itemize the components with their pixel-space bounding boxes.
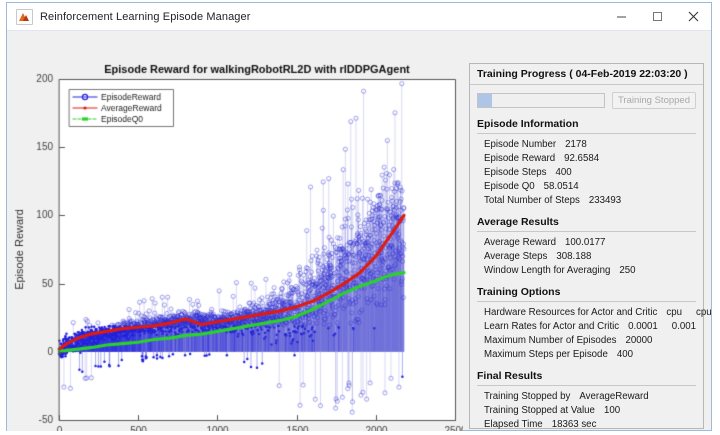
info-row: Episode Steps400: [477, 165, 696, 179]
panel-section: Final ResultsTraining Stopped byAverageR…: [477, 370, 696, 431]
panel-content: Training Stopped Episode InformationEpis…: [470, 85, 703, 431]
info-key: Episode Q0: [484, 181, 535, 192]
info-value: 233493: [589, 195, 621, 206]
section-heading: Final Results: [477, 370, 696, 386]
window-controls: [603, 3, 711, 30]
title-bar: Reinforcement Learning Episode Manager: [7, 3, 711, 31]
info-row: Training Stopped at Value100: [477, 403, 696, 417]
info-key: Average Steps: [484, 251, 547, 262]
section-heading: Average Results: [477, 216, 696, 232]
info-key: Learn Rates for Actor and Critic: [484, 321, 619, 332]
info-key: Maximum Number of Episodes: [484, 335, 616, 346]
info-value: 100.0177: [565, 237, 605, 248]
app-window: Reinforcement Learning Episode Manager T…: [6, 2, 712, 431]
info-value: 308.188: [556, 251, 591, 262]
section-heading: Episode Information: [477, 118, 696, 134]
info-value-secondary: cpu: [696, 307, 712, 318]
matlab-membrane-icon: [16, 9, 33, 25]
maximize-icon[interactable]: [639, 3, 675, 30]
panel-section: Average ResultsAverage Reward100.0177Ave…: [477, 216, 696, 277]
info-value: 400: [555, 167, 571, 178]
info-key: Episode Steps: [484, 167, 546, 178]
info-row: Elapsed Time18363 sec: [477, 417, 696, 431]
info-value: 400: [617, 349, 633, 360]
info-row: Average Steps308.188: [477, 249, 696, 263]
info-key: Maximum Steps per Episode: [484, 349, 608, 360]
info-key: Episode Number: [484, 139, 556, 150]
info-value-secondary: 0.001: [672, 321, 696, 332]
info-row: Episode Reward92.6584: [477, 151, 696, 165]
info-value: 0.0001: [628, 321, 658, 332]
progress-bar-fill: [478, 94, 492, 107]
progress-row: Training Stopped: [477, 92, 696, 109]
info-row: Hardware Resources for Actor and Criticc…: [477, 305, 696, 319]
window-title: Reinforcement Learning Episode Manager: [40, 11, 250, 23]
info-key: Total Number of Steps: [484, 195, 580, 206]
info-key: Average Reward: [484, 237, 556, 248]
panel-section: Episode InformationEpisode Number2178Epi…: [477, 118, 696, 207]
close-icon[interactable]: [675, 3, 711, 30]
info-value: 2178: [565, 139, 587, 150]
info-key: Hardware Resources for Actor and Critic: [484, 307, 657, 318]
info-value: 92.6584: [564, 153, 599, 164]
info-row: Learn Rates for Actor and Critic0.00010.…: [477, 319, 696, 333]
info-value: 100: [604, 405, 620, 416]
info-row: Maximum Steps per Episode400: [477, 347, 696, 361]
minimize-icon[interactable]: [603, 3, 639, 30]
chart-canvas: [7, 31, 463, 431]
window-body: Training Progress ( 04-Feb-2019 22:03:20…: [7, 31, 711, 430]
info-row: Window Length for Averaging250: [477, 263, 696, 277]
info-row: Episode Q058.0514: [477, 179, 696, 193]
info-value: 58.0514: [544, 181, 579, 192]
panel-section: Training OptionsHardware Resources for A…: [477, 286, 696, 361]
info-value: 18363 sec: [552, 419, 597, 430]
info-key: Window Length for Averaging: [484, 265, 610, 276]
info-value: cpu: [666, 307, 682, 318]
info-key: Training Stopped by: [484, 391, 570, 402]
info-row: Average Reward100.0177: [477, 235, 696, 249]
info-row: Total Number of Steps233493: [477, 193, 696, 207]
training-progress-bar: [477, 93, 605, 108]
info-row: Maximum Number of Episodes20000: [477, 333, 696, 347]
info-key: Training Stopped at Value: [484, 405, 595, 416]
info-value: 20000: [625, 335, 652, 346]
info-key: Elapsed Time: [484, 419, 543, 430]
info-value: 250: [619, 265, 635, 276]
panel-sections: Episode InformationEpisode Number2178Epi…: [477, 118, 696, 431]
info-row: Episode Number2178: [477, 137, 696, 151]
info-row: Training Stopped byAverageReward: [477, 389, 696, 403]
section-heading: Training Options: [477, 286, 696, 302]
panel-title: Training Progress ( 04-Feb-2019 22:03:20…: [470, 64, 703, 85]
info-key: Episode Reward: [484, 153, 555, 164]
episode-reward-chart: [7, 31, 463, 431]
training-stopped-button[interactable]: Training Stopped: [612, 92, 696, 109]
info-value: AverageReward: [579, 391, 648, 402]
training-progress-panel: Training Progress ( 04-Feb-2019 22:03:20…: [469, 63, 704, 429]
